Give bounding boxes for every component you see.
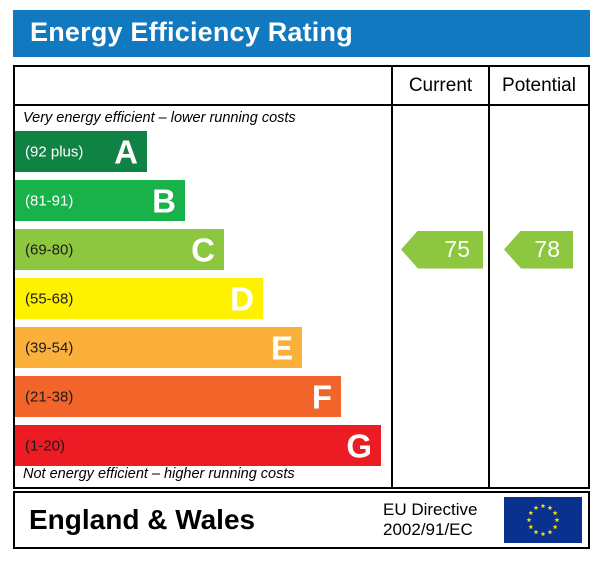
band-e: (39-54)E	[15, 327, 302, 368]
directive-line-1: EU Directive	[383, 500, 477, 520]
eu-flag-icon	[504, 497, 582, 543]
band-b: (81-91)B	[15, 180, 185, 221]
band-range-f: (21-38)	[25, 388, 73, 405]
rating-marker-current: 75	[401, 231, 483, 269]
band-letter-b: B	[152, 184, 176, 217]
page-title: Energy Efficiency Rating	[30, 17, 353, 48]
rating-chart: Current Potential Very energy efficient …	[13, 65, 590, 489]
column-divider-2	[488, 106, 490, 487]
band-list: (92 plus)A(81-91)B(69-80)C(55-68)D(39-54…	[15, 131, 391, 466]
band-letter-f: F	[312, 380, 332, 413]
rating-marker-potential: 78	[504, 231, 573, 269]
directive-label: EU Directive 2002/91/EC	[383, 500, 477, 540]
band-letter-a: A	[114, 135, 138, 168]
chart-title-bar: Energy Efficiency Rating	[13, 10, 590, 57]
column-header-current: Current	[391, 67, 488, 104]
caption-bottom: Not energy efficient – higher running co…	[23, 466, 295, 482]
column-header-row: Current Potential	[15, 67, 588, 106]
band-c: (69-80)C	[15, 229, 224, 270]
band-f: (21-38)F	[15, 376, 341, 417]
footer: England & Wales EU Directive 2002/91/EC	[13, 491, 590, 549]
band-range-d: (55-68)	[25, 290, 73, 307]
band-range-c: (69-80)	[25, 241, 73, 258]
band-letter-c: C	[191, 233, 215, 266]
band-range-e: (39-54)	[25, 339, 73, 356]
directive-line-2: 2002/91/EC	[383, 520, 477, 540]
epc-certificate: Energy Efficiency Rating Current Potenti…	[0, 0, 603, 564]
band-range-b: (81-91)	[25, 192, 73, 209]
band-letter-e: E	[271, 331, 293, 364]
column-divider-1	[391, 106, 393, 487]
band-letter-g: G	[346, 429, 372, 462]
band-d: (55-68)D	[15, 278, 263, 319]
column-header-potential: Potential	[488, 67, 588, 104]
band-g: (1-20)G	[15, 425, 381, 466]
band-letter-d: D	[230, 282, 254, 315]
region-label: England & Wales	[29, 504, 255, 536]
band-range-g: (1-20)	[25, 437, 65, 454]
band-a: (92 plus)A	[15, 131, 147, 172]
band-range-a: (92 plus)	[25, 143, 83, 160]
caption-top: Very energy efficient – lower running co…	[23, 110, 296, 126]
